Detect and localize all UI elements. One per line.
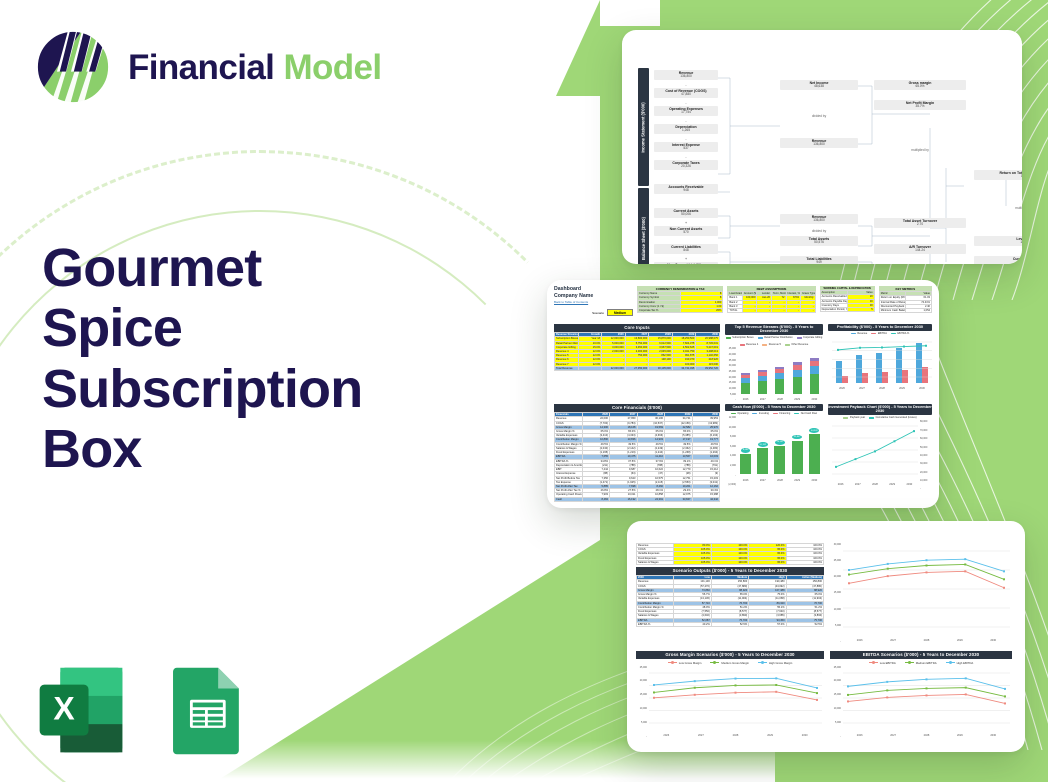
data-point xyxy=(887,575,889,577)
op-minus-1: - xyxy=(671,83,701,87)
scenario-card[interactable]: Revenue80.0%100.0%120.0%100.0%COGS105.0%… xyxy=(627,521,1025,752)
debt-panel-table: Loan/Grant NameAmount ($)LenderTerm, Mon… xyxy=(727,291,815,313)
axis-tick: 2030 xyxy=(990,639,996,642)
data-label: 24,391 xyxy=(775,440,785,445)
data-point xyxy=(848,574,850,576)
legend-label: High Gross Margin xyxy=(769,661,792,665)
legend-label: Corporate Gifting xyxy=(803,336,822,339)
axis-tick: 2030 xyxy=(802,734,808,737)
axis-tick: 15,000 xyxy=(830,693,841,696)
data-point xyxy=(965,686,967,688)
axis-tick: 2030 xyxy=(906,483,912,486)
node-opex: Operating Expenses17,754 xyxy=(654,106,718,116)
axis-tick: 2026 xyxy=(838,483,844,486)
op-minus-2: - xyxy=(671,101,701,105)
profitability-legend: RevenueEBITDAEBITDA % xyxy=(828,332,932,335)
cash-flow-x-axis: 20262027202820292030 xyxy=(737,479,823,482)
ebitda-legend: Low EBITDAMedium EBITDAHigh EBITDA xyxy=(830,661,1012,665)
data-point xyxy=(816,687,818,689)
axis-tick: 10,000 xyxy=(725,426,736,429)
data-point xyxy=(881,347,883,349)
profitability-block: Profitability ($'000) - 5 Years to Decem… xyxy=(828,324,932,400)
ebitda-y-axis: 25,00020,00015,00010,0005,000- xyxy=(830,666,841,738)
core-inputs-block: Core Inputs Revenue StreamsGrowth2026202… xyxy=(554,324,720,400)
brand-wordmark: Financial Model xyxy=(128,50,382,85)
data-point xyxy=(855,459,857,461)
axis-tick: 2028 xyxy=(777,398,783,401)
op-multiplied-by-1: multiplied by xyxy=(900,148,940,152)
node-revenue: Revenue136,800 xyxy=(654,70,718,80)
axis-tick: 20,000 xyxy=(725,376,736,379)
legend-item: Corporate Gifting xyxy=(797,336,823,339)
data-label: 8,484 xyxy=(741,448,750,453)
investment-payback-title: Investment Payback Chart ($'000) - 5 Yea… xyxy=(828,404,932,415)
axis-tick: 6,000 xyxy=(725,445,736,448)
microsoft-excel-icon: X xyxy=(34,664,128,758)
dupont-flowchart: Income Statement ($'000) Balance Sheet (… xyxy=(630,66,1014,244)
cash-flow-title: Cash flow ($'000) - 5 Years to December … xyxy=(725,404,823,411)
axis-tick: 25,000 xyxy=(830,559,841,562)
top-revenue-streams-chart: 45,00040,00035,00030,00025,00020,00015,0… xyxy=(725,347,823,401)
wc-panel-table: AssumptionValueAccounts Receivable Days2… xyxy=(820,290,875,312)
bar-segment xyxy=(775,379,784,394)
axis-tick: 2029 xyxy=(767,734,773,737)
axis-tick: 8,000 xyxy=(725,435,736,438)
ebitda-scenarios-block: EBITDA Scenarios ($'000) - 5 Years to De… xyxy=(830,651,1012,743)
legend-item: High Gross Margin xyxy=(758,661,792,665)
top-revenue-streams-block: Top 5 Revenue Streams ($'000) - 5 Years … xyxy=(725,324,823,400)
legend-label: Investing xyxy=(759,412,769,415)
axis-tick: 60,000 xyxy=(920,437,932,440)
axis-tick: 30,000 xyxy=(725,364,736,367)
white-notch-top xyxy=(600,0,660,26)
legend-label: Low Gross Margin xyxy=(679,661,702,665)
legend-label: Retail Partner Distribution xyxy=(764,336,792,339)
axis-tick: 30,000 xyxy=(920,462,932,465)
axis-tick: 5,000 xyxy=(725,393,736,396)
data-point xyxy=(926,571,928,573)
core-financials-title: Core Financials ($'000) xyxy=(554,404,720,412)
axis-tick: 2029 xyxy=(889,483,895,486)
axis-tick: 10,000 xyxy=(636,707,647,710)
scenario-assumptions-table: Revenue80.0%100.0%120.0%100.0%COGS105.0%… xyxy=(636,543,824,565)
table-row: Minimum Cash Balance1,054 xyxy=(879,309,931,313)
bar-column xyxy=(810,358,819,395)
scenario-sheet: Revenue80.0%100.0%120.0%100.0%COGS105.0%… xyxy=(627,521,1025,752)
scenario-summary-line-chart: 30,00025,00020,00015,00010,0005,000- 202… xyxy=(830,543,1012,643)
legend-item: Net Cash Flow xyxy=(794,412,817,415)
node-current-ratio: Current Ratio58.98 xyxy=(974,256,1022,264)
op-minus-4: - xyxy=(671,137,701,141)
legend-label: Payback year xyxy=(850,416,865,419)
node-accounts-receivable: Accounts Receivable948 xyxy=(654,184,718,194)
legend-label: Net Cash Flow xyxy=(801,412,817,415)
op-minus-3: - xyxy=(671,119,701,123)
legend-item: Medium Gross Margin xyxy=(710,661,749,665)
axis-tick: 20,000 xyxy=(920,471,932,474)
axis-tick: 2028 xyxy=(777,479,783,482)
data-point xyxy=(694,686,696,688)
profitability-x-axis: 20262027202820292030 xyxy=(832,387,932,390)
circular-bar-chart-logo-icon xyxy=(34,28,112,106)
bar-segment xyxy=(810,366,819,374)
dashboard-title-line2: Company Name xyxy=(554,293,633,300)
scenario-top-row: Revenue80.0%100.0%120.0%100.0%COGS105.0%… xyxy=(636,529,1016,649)
legend-label: EBITDA xyxy=(878,332,887,335)
axis-tick: 2026 xyxy=(857,639,863,642)
legend-item: Retail Partner Distribution xyxy=(758,336,793,339)
line-series xyxy=(654,678,817,688)
axis-tick: - xyxy=(830,640,841,643)
axis-tick: 2027 xyxy=(698,734,704,737)
axis-tick: - xyxy=(920,487,932,490)
data-point xyxy=(1004,695,1006,697)
data-point xyxy=(1003,587,1005,589)
revenue-y-axis: 45,00040,00035,00030,00025,00020,00015,0… xyxy=(725,347,736,401)
profitability-chart: 20262027202820292030 xyxy=(828,336,932,390)
axis-tick: 2027 xyxy=(760,479,766,482)
promo-banner: Financial Model Gourmet Spice Subscripti… xyxy=(0,0,1048,782)
scenario-outputs-title: Scenario Outputs ($'000) - 5 Years to De… xyxy=(636,567,824,575)
table-row: Depreciation Period, Years5 xyxy=(820,308,874,312)
data-point xyxy=(775,690,777,692)
axis-tick: 45,000 xyxy=(725,347,736,350)
gm-x-axis: 20262027202820292030 xyxy=(649,734,822,737)
legend-label: Revenue xyxy=(857,332,867,335)
data-label: 44,342 xyxy=(809,428,819,433)
gross-margin-title: Gross Margin Scenarios ($'000) - 5 Years… xyxy=(636,651,824,659)
legend-item: Financing xyxy=(773,412,790,415)
bar-segment xyxy=(741,383,750,394)
currency-denomination-panel: CURRENCY DENOMINATION & TAX Currency Nam… xyxy=(637,286,723,313)
data-point xyxy=(848,582,850,584)
legend-item: Revenue 5 xyxy=(762,343,781,346)
data-point xyxy=(926,694,928,696)
bar-column xyxy=(758,370,767,394)
node-depreciation: Depreciation1,265 xyxy=(654,124,718,134)
legend-label: High EBITDA xyxy=(957,661,974,665)
node-corporate-taxes: Corporate Taxes20,326 xyxy=(654,160,718,170)
dashboard-card[interactable]: Dashboard Company Name Back to Table of … xyxy=(547,280,939,508)
dashboard-title-block: Dashboard Company Name Back to Table of … xyxy=(554,286,633,316)
legend-label: Subscription Boxes xyxy=(732,336,753,339)
scenario-outputs-table: 2030LowMediumHighActive (Medium)Revenue1… xyxy=(636,575,824,627)
headline-line-3: Subscription xyxy=(42,359,462,419)
legend-label: Financing xyxy=(779,412,790,415)
data-point xyxy=(903,346,905,348)
gross-margin-chart: 25,00020,00015,00010,0005,000- 202620272… xyxy=(636,666,824,738)
axis-tick: 30,000 xyxy=(830,543,841,546)
bar-column xyxy=(741,373,750,394)
investment-payback-chart: 80,00070,00060,00050,00040,00030,00020,0… xyxy=(828,420,932,490)
op-plus-2: + xyxy=(671,257,701,261)
node-current-liabilities: Current Liabilities848 xyxy=(654,244,718,254)
data-point xyxy=(848,569,850,571)
axis-tick: 70,000 xyxy=(920,429,932,432)
gm-y-axis: 25,00020,00015,00010,0005,000- xyxy=(636,666,647,738)
op-plus-1: + xyxy=(671,221,701,225)
bar-segment xyxy=(758,381,767,394)
node-revenue-2: Revenue136,800 xyxy=(780,138,858,148)
axis-tick: 2026 xyxy=(743,398,749,401)
node-total-asset-turnover: Total Asset Turnover2.70 xyxy=(874,218,966,228)
data-point xyxy=(874,451,876,453)
line-series xyxy=(849,571,1004,587)
data-point xyxy=(847,685,849,687)
bar-segment xyxy=(793,377,802,394)
km-panel-table: MetricValueReturn on Equity (ROE)61.03In… xyxy=(879,291,932,313)
page-title: Gourmet Spice Subscription Box xyxy=(42,238,462,480)
profitability-title: Profitability ($'000) - 5 Years to Decem… xyxy=(828,324,932,331)
headline-line-4: Box xyxy=(42,419,462,479)
table-row: Cash8,48416,19224,39133,84744,342 xyxy=(555,497,720,501)
core-financials-table: Financials20262027202820292030Revenue22,… xyxy=(554,412,720,502)
node-net-income: Net Income48,638 xyxy=(780,80,858,90)
data-point xyxy=(964,563,966,565)
op-divided-by-2: divided by xyxy=(799,229,839,233)
cash-flow-y-axis: 12,00010,0008,0006,0004,0002,000-(2,000) xyxy=(725,416,736,486)
bar-segment xyxy=(810,374,819,394)
axis-tick: 2027 xyxy=(760,398,766,401)
debt-assumptions-panel: DEBT ASSUMPTIONS Loan/Grant NameAmount (… xyxy=(727,286,815,313)
data-point xyxy=(835,466,837,468)
dupont-flowchart-card[interactable]: Income Statement ($'000) Balance Sheet (… xyxy=(622,30,1022,264)
axis-tick: - xyxy=(725,398,736,401)
revenue-x-axis: 20262027202820292030 xyxy=(737,398,823,401)
axis-tick: 2028 xyxy=(733,734,739,737)
data-point xyxy=(913,431,915,433)
gross-margin-legend: Low Gross MarginMedium Gross MarginHigh … xyxy=(636,661,824,665)
data-point xyxy=(964,570,966,572)
node-non-current-liabilities: Non Current Liabilities109 xyxy=(654,262,718,264)
data-point xyxy=(816,698,818,700)
ebitda-title: EBITDA Scenarios ($'000) - 5 Years to De… xyxy=(830,651,1012,659)
node-interest-expense: Interest Expense537 xyxy=(654,142,718,152)
node-ar-turnover: A/R Turnover144.24 xyxy=(874,244,966,254)
data-point xyxy=(1003,570,1005,572)
dashboard-toc-link[interactable]: Back to Table of Contents xyxy=(554,300,633,304)
currency-panel-table: Currency Name$Currency Symbol$Denominati… xyxy=(637,291,723,313)
axis-tick: 25,000 xyxy=(636,666,647,669)
axis-tick: 40,000 xyxy=(725,353,736,356)
axis-tick: 20,000 xyxy=(830,575,841,578)
data-point xyxy=(837,349,839,351)
data-point xyxy=(816,692,818,694)
bar-column xyxy=(775,367,784,395)
investment-payback-block: Investment Payback Chart ($'000) - 5 Yea… xyxy=(828,404,932,496)
line-series xyxy=(836,432,914,468)
axis-tick: 25,000 xyxy=(830,666,841,669)
axis-tick: 2030 xyxy=(811,479,817,482)
axis-tick: 2029 xyxy=(794,479,800,482)
axis-tick: (2,000) xyxy=(725,483,736,486)
axis-tick: - xyxy=(725,474,736,477)
axis-tick: 2027 xyxy=(890,734,896,737)
data-point xyxy=(894,441,896,443)
table-row: TOTAL----- xyxy=(728,309,815,313)
axis-tick: 2028 xyxy=(924,734,930,737)
dashboard-bottom-row: Core Financials ($'000) Financials202620… xyxy=(554,404,932,496)
legend-item: Revenue 4 xyxy=(740,343,759,346)
node-net-profit-margin: Net Profit Margin35.7% xyxy=(874,100,966,110)
op-minus-5: - xyxy=(671,155,701,159)
axis-tick: 12,000 xyxy=(725,416,736,419)
axis-tick: 2026 xyxy=(743,479,749,482)
axis-tick: 2,000 xyxy=(725,464,736,467)
axis-tick: 50,000 xyxy=(920,446,932,449)
data-point xyxy=(694,680,696,682)
file-format-icons: X xyxy=(34,664,252,758)
legend-item: Payback year xyxy=(843,416,865,419)
axis-tick: 2029 xyxy=(794,398,800,401)
scenario-bottom-row: Gross Margin Scenarios ($'000) - 5 Years… xyxy=(636,651,1016,743)
data-point xyxy=(926,565,928,567)
table-row: Total Revenue22,000,00027,950,00030,105,… xyxy=(555,366,720,370)
legend-item: EBITDA % xyxy=(891,332,909,335)
bar xyxy=(740,454,751,474)
data-point xyxy=(887,563,889,565)
data-point xyxy=(735,691,737,693)
investment-payback-legend: Payback yearCumulative Cash Generated (l… xyxy=(828,416,932,419)
ebitda-chart: 25,00020,00015,00010,0005,000- 202620272… xyxy=(830,666,1012,738)
axis-tick: 2029 xyxy=(899,387,905,390)
cash-flow-chart: 12,00010,0008,0006,0004,0002,000-(2,000)… xyxy=(725,416,823,486)
axis-tick: 5,000 xyxy=(830,624,841,627)
axis-tick: 40,000 xyxy=(920,454,932,457)
legend-label: EBITDA % xyxy=(897,332,909,335)
axis-tick: 25,000 xyxy=(725,370,736,373)
bar xyxy=(792,441,803,475)
core-financials-block: Core Financials ($'000) Financials202620… xyxy=(554,404,720,496)
cash-flow-legend: OperatingInvestingFinancingNet Cash Flow xyxy=(725,412,823,415)
axis-tick: 2030 xyxy=(811,398,817,401)
data-point xyxy=(887,568,889,570)
axis-tick: 2026 xyxy=(839,387,845,390)
scenario-label: Scenario xyxy=(592,311,604,315)
data-point xyxy=(965,677,967,679)
node-current-assets: Current Assets50,006 xyxy=(654,208,718,218)
headline-line-1: Gourmet xyxy=(42,238,462,298)
brand-logo: Financial Model xyxy=(34,28,382,106)
axis-tick: 10,000 xyxy=(830,707,841,710)
legend-item: Other Revenue xyxy=(785,343,808,346)
data-point xyxy=(775,677,777,679)
scenario-selector[interactable]: Scenario Medium xyxy=(554,309,633,316)
data-point xyxy=(735,684,737,686)
node-gross-margin: Gross margin65.0% xyxy=(874,80,966,90)
bar-column xyxy=(793,362,802,394)
data-point xyxy=(847,693,849,695)
legend-label: Revenue 4 xyxy=(746,343,758,346)
node-cogs: Cost of Revenue (COGS)47,880 xyxy=(654,88,718,98)
payback-x-axis: 20262027202820292030 xyxy=(832,483,918,486)
brand-name-part1: Financial xyxy=(128,48,274,87)
axis-tick: 2028 xyxy=(879,387,885,390)
scenario-value[interactable]: Medium xyxy=(607,309,633,316)
node-roa: Return on Total Assets (ROA)0.97 xyxy=(974,170,1022,180)
legend-label: Cumulative Cash Generated (losses) xyxy=(876,416,917,419)
data-point xyxy=(1004,702,1006,704)
core-inputs-table: Revenue StreamsGrowth2026202720282029203… xyxy=(554,332,720,371)
legend-item: Low Gross Margin xyxy=(668,661,702,665)
table-row: EBITDA %40.2%52.5%57.0%52.5% xyxy=(637,622,824,626)
legend-item: Investing xyxy=(752,412,769,415)
wc-panel-title: WORKING CAPITAL & DEPRECIATION xyxy=(820,286,875,290)
axis-tick: 2028 xyxy=(924,639,930,642)
axis-tick: 2027 xyxy=(859,387,865,390)
axis-tick: 35,000 xyxy=(725,359,736,362)
svg-text:X: X xyxy=(53,690,75,726)
data-point xyxy=(653,696,655,698)
legend-item: Medium EBITDA xyxy=(905,661,937,665)
legend-label: Other Revenue xyxy=(791,343,808,346)
axis-tick: 10,000 xyxy=(920,479,932,482)
data-point xyxy=(1003,578,1005,580)
data-point xyxy=(775,684,777,686)
data-point xyxy=(859,347,861,349)
data-point xyxy=(694,693,696,695)
key-metrics-panel: KEY METRICS MetricValueReturn on Equity … xyxy=(879,286,932,313)
scenario-left-col: Revenue80.0%100.0%120.0%100.0%COGS105.0%… xyxy=(636,529,824,649)
legend-item: High EBITDA xyxy=(946,661,974,665)
legend-label: Revenue 5 xyxy=(769,343,781,346)
data-label: 33,847 xyxy=(792,435,802,440)
brand-name-part2: Model xyxy=(283,48,381,87)
node-revenue-3: Revenue136,800 xyxy=(780,214,858,224)
axis-tick: 20,000 xyxy=(830,679,841,682)
axis-tick: 10,000 xyxy=(830,608,841,611)
top-revenue-streams-title: Top 5 Revenue Streams ($'000) - 5 Years … xyxy=(725,324,823,335)
google-sheets-icon xyxy=(158,664,252,758)
data-point xyxy=(965,693,967,695)
legend-item: Revenue xyxy=(851,332,868,335)
cash-flow-block: Cash flow ($'000) - 5 Years to December … xyxy=(725,404,823,496)
axis-tick: 10,000 xyxy=(725,387,736,390)
legend-item: Subscription Boxes xyxy=(726,336,754,339)
axis-tick: 15,000 xyxy=(830,591,841,594)
working-capital-panel: WORKING CAPITAL & DEPRECIATION Assumptio… xyxy=(820,286,875,312)
axis-tick: 2030 xyxy=(919,387,925,390)
bar-segment xyxy=(793,370,802,377)
bar xyxy=(757,448,768,474)
legend-label: Low EBITDA xyxy=(880,661,896,665)
node-leverage: Leverage1.9% xyxy=(974,236,1022,246)
axis-tick: 2026 xyxy=(663,734,669,737)
payback-y-axis: 80,00070,00060,00050,00040,00030,00020,0… xyxy=(920,420,932,490)
axis-tick: 5,000 xyxy=(830,721,841,724)
axis-tick: - xyxy=(830,735,841,738)
bar xyxy=(809,434,820,474)
data-point xyxy=(847,700,849,702)
data-point xyxy=(886,680,888,682)
ebitda-x-axis: 20262027202820292030 xyxy=(843,734,1010,737)
summary-y-axis: 30,00025,00020,00015,00010,0005,000- xyxy=(830,543,841,643)
headline-line-2: Spice xyxy=(42,298,462,358)
left-content: Financial Model Gourmet Spice Subscripti… xyxy=(0,0,480,782)
op-multiplied-by-2: multiplied by xyxy=(1004,206,1022,210)
data-point xyxy=(1004,687,1006,689)
data-point xyxy=(925,345,927,347)
axis-tick: 80,000 xyxy=(920,420,932,423)
axis-tick: 4,000 xyxy=(725,454,736,457)
scenario-summary-chart-block: 30,00025,00020,00015,00010,0005,000- 202… xyxy=(830,529,1012,649)
data-point xyxy=(886,696,888,698)
axis-tick: 20,000 xyxy=(636,679,647,682)
bar xyxy=(774,446,785,474)
legend-item: Operating xyxy=(731,412,748,415)
node-total-assets: Total Assets50,576 xyxy=(780,236,858,246)
dashboard: Dashboard Company Name Back to Table of … xyxy=(547,280,939,508)
